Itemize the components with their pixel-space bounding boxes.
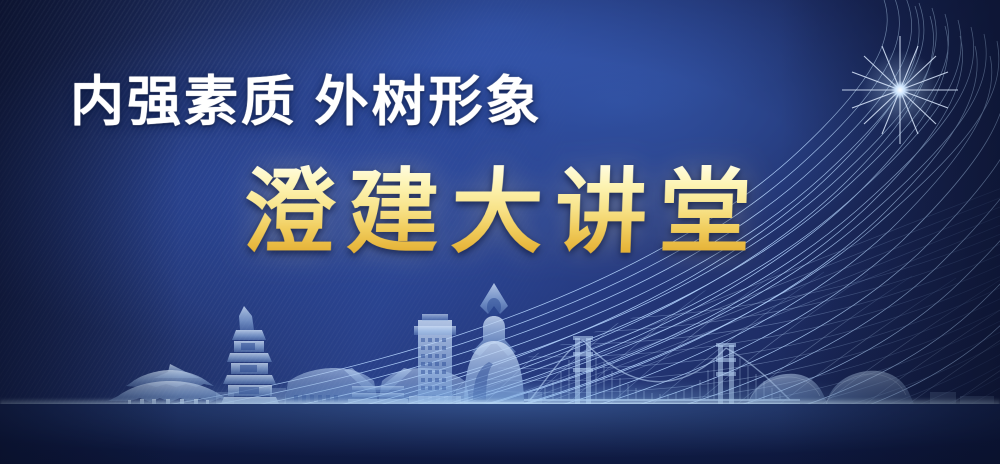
banner-main-title: 澄建大讲堂 [241,165,764,263]
banner-root: 内强素质 外树形象 澄建大讲堂 澄建大讲堂 [0,0,1000,464]
banner-headline: 内强素质 外树形象 [70,57,543,136]
